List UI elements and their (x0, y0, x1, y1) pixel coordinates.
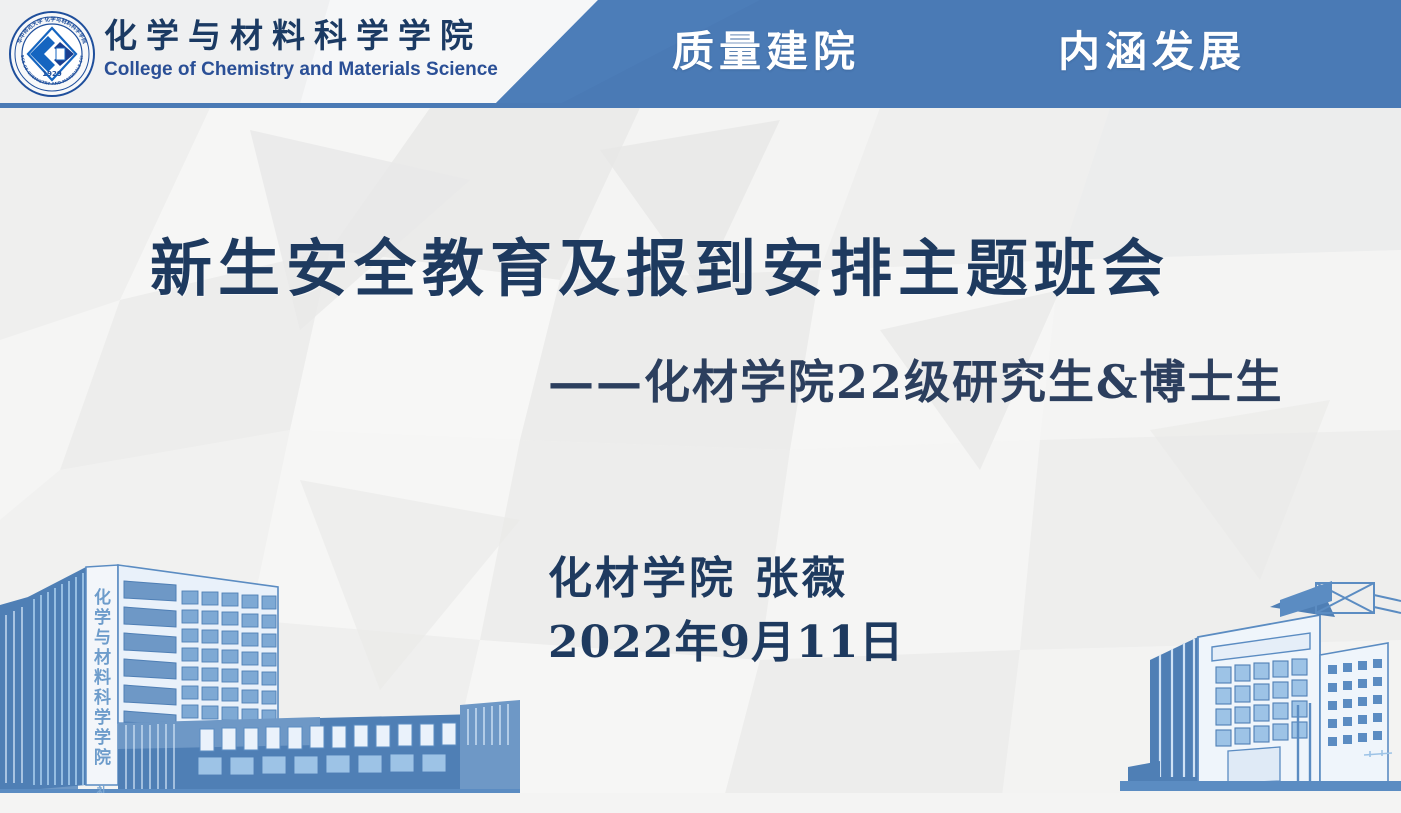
campus-building-left-illustration (0, 545, 520, 800)
campus-building-right-illustration (1120, 555, 1401, 800)
svg-text:1929: 1929 (42, 70, 62, 78)
college-seal-icon: 华中师范大学 化学与材料科学学院 COLLEGE OF CHEMISTRY AN… (8, 10, 96, 98)
slide-header: 华中师范大学 化学与材料科学学院 COLLEGE OF CHEMISTRY AN… (0, 0, 1401, 108)
building-left-label: 化学与材料科学学院 (85, 588, 111, 768)
slide-footer-strip (0, 793, 1401, 813)
college-name-block: 化学与材料科学学院 College of Chemistry and Mater… (104, 16, 504, 83)
header-bottom-rule (0, 103, 1401, 108)
slogan-development: 内涵发展 (1058, 26, 1246, 78)
college-name-en: College of Chemistry and Materials Scien… (104, 57, 504, 83)
presenter-name: 化材学院 张薇 (548, 548, 848, 610)
slide-title: 新生安全教育及报到安排主题班会 (150, 228, 1170, 310)
slide-subtitle: ——化材学院22级研究生&博士生 (548, 352, 1284, 412)
presentation-slide: 华中师范大学 化学与材料科学学院 COLLEGE OF CHEMISTRY AN… (0, 0, 1401, 813)
college-name-cn: 化学与材料科学学院 (104, 16, 504, 56)
slogan-quality: 质量建院 (672, 26, 860, 78)
presentation-date: 2022年9月11日 (548, 612, 904, 674)
